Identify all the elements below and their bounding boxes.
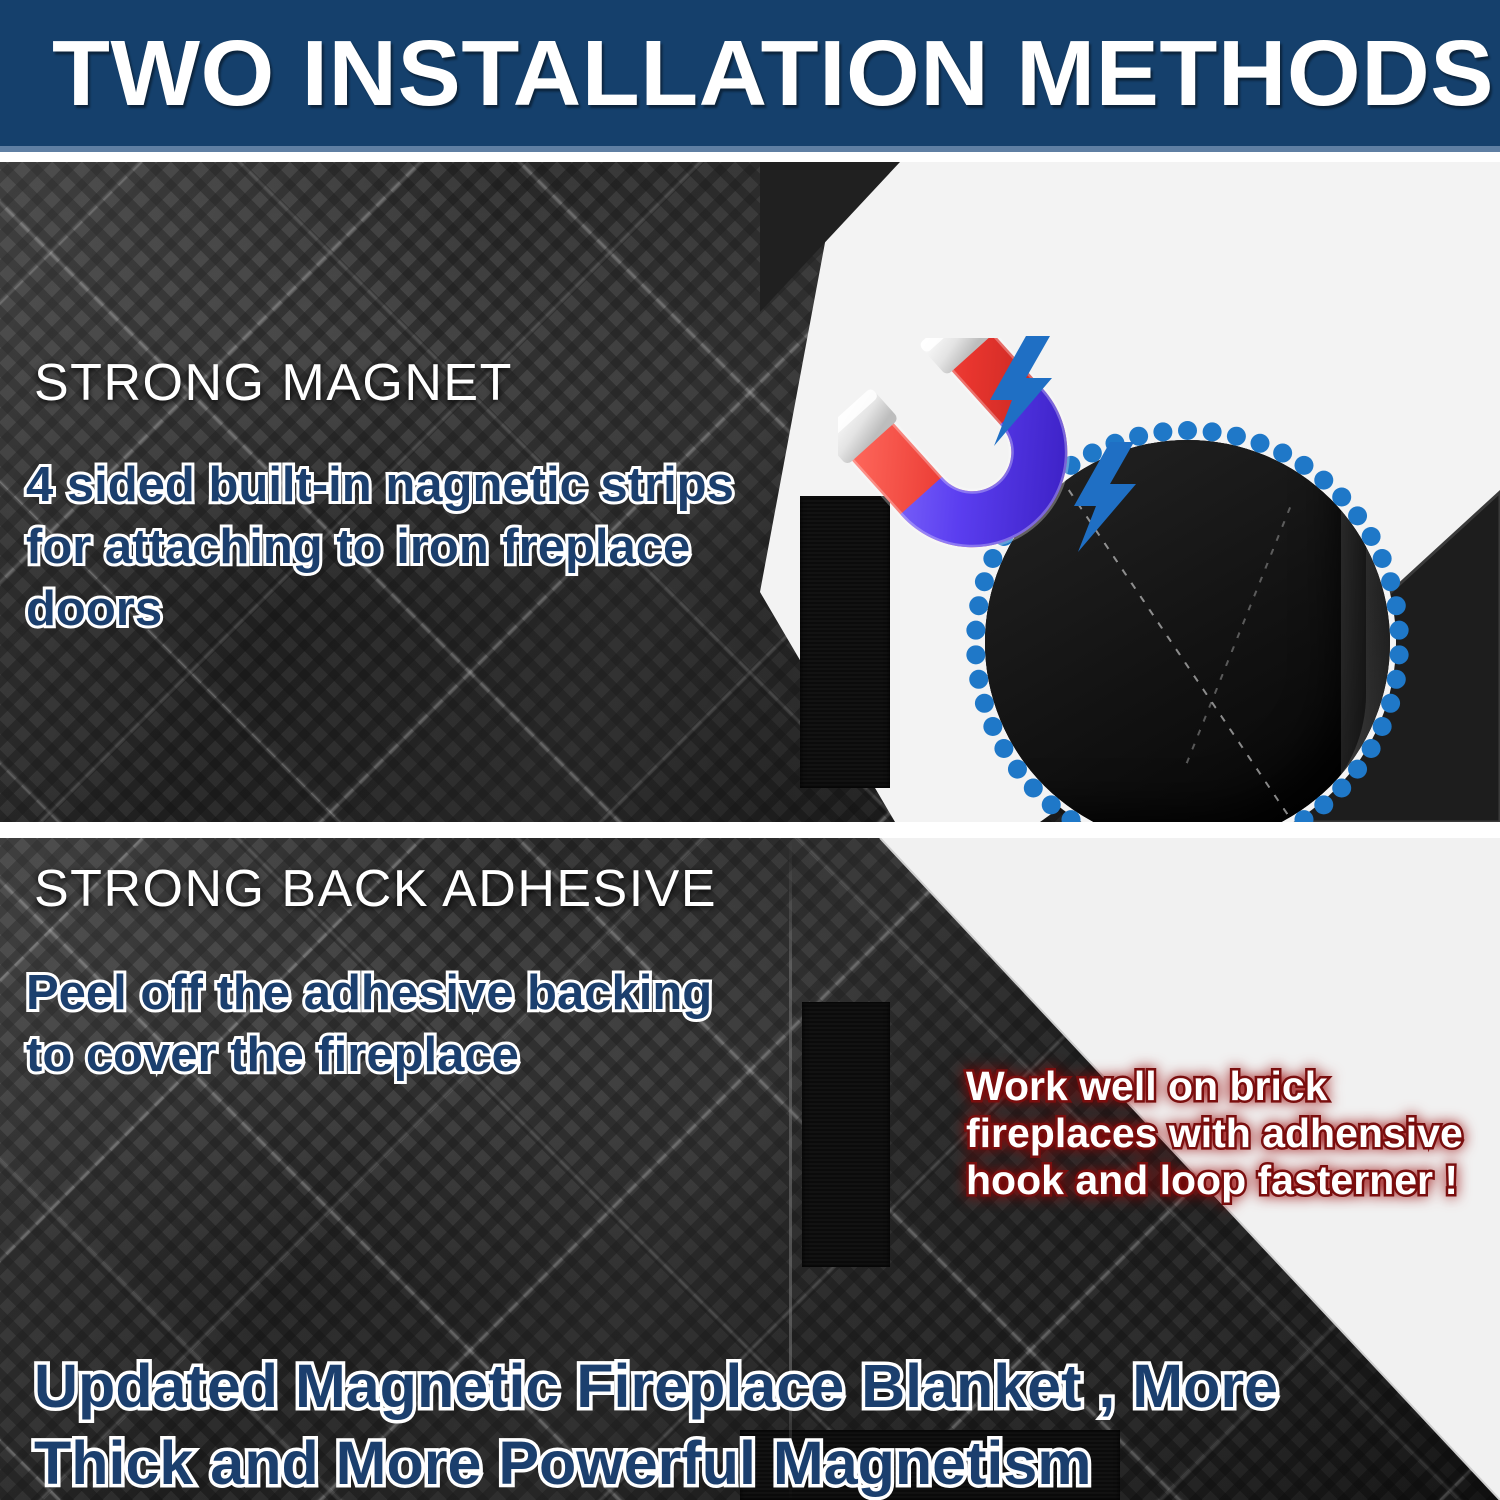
panel-label-strong-back-adhesive: STRONG BACK ADHESIVE bbox=[34, 860, 717, 918]
panel-body-strong-magnet: 4 sided built-in nagnetic strips for att… bbox=[26, 454, 766, 640]
panel-strong-magnet: STRONG MAGNET 4 sided built-in nagnetic … bbox=[0, 162, 1500, 822]
product-infographic: TWO INSTALLATION METHODS bbox=[0, 0, 1500, 1500]
inset-edge-highlight bbox=[1341, 448, 1390, 822]
lightning-bolt-icon bbox=[960, 330, 1150, 560]
velcro-strip-vertical bbox=[802, 1002, 890, 1267]
caption-brick-fireplaces: Work well on brick fireplaces with adhen… bbox=[966, 1063, 1500, 1204]
panel-label-strong-magnet: STRONG MAGNET bbox=[34, 354, 513, 412]
page-title: TWO INSTALLATION METHODS bbox=[52, 18, 1500, 128]
panel-strong-back-adhesive: STRONG BACK ADHESIVE Peel off the adhesi… bbox=[0, 838, 1500, 1500]
panel-divider bbox=[0, 822, 1500, 838]
panel-body-strong-back-adhesive: Peel off the adhesive backing to cover t… bbox=[26, 962, 726, 1086]
product-tagline: Updated Magnetic Fireplace Blanket , Mor… bbox=[34, 1348, 1364, 1500]
header-banner: TWO INSTALLATION METHODS bbox=[0, 0, 1500, 146]
banner-gap bbox=[0, 152, 1500, 162]
